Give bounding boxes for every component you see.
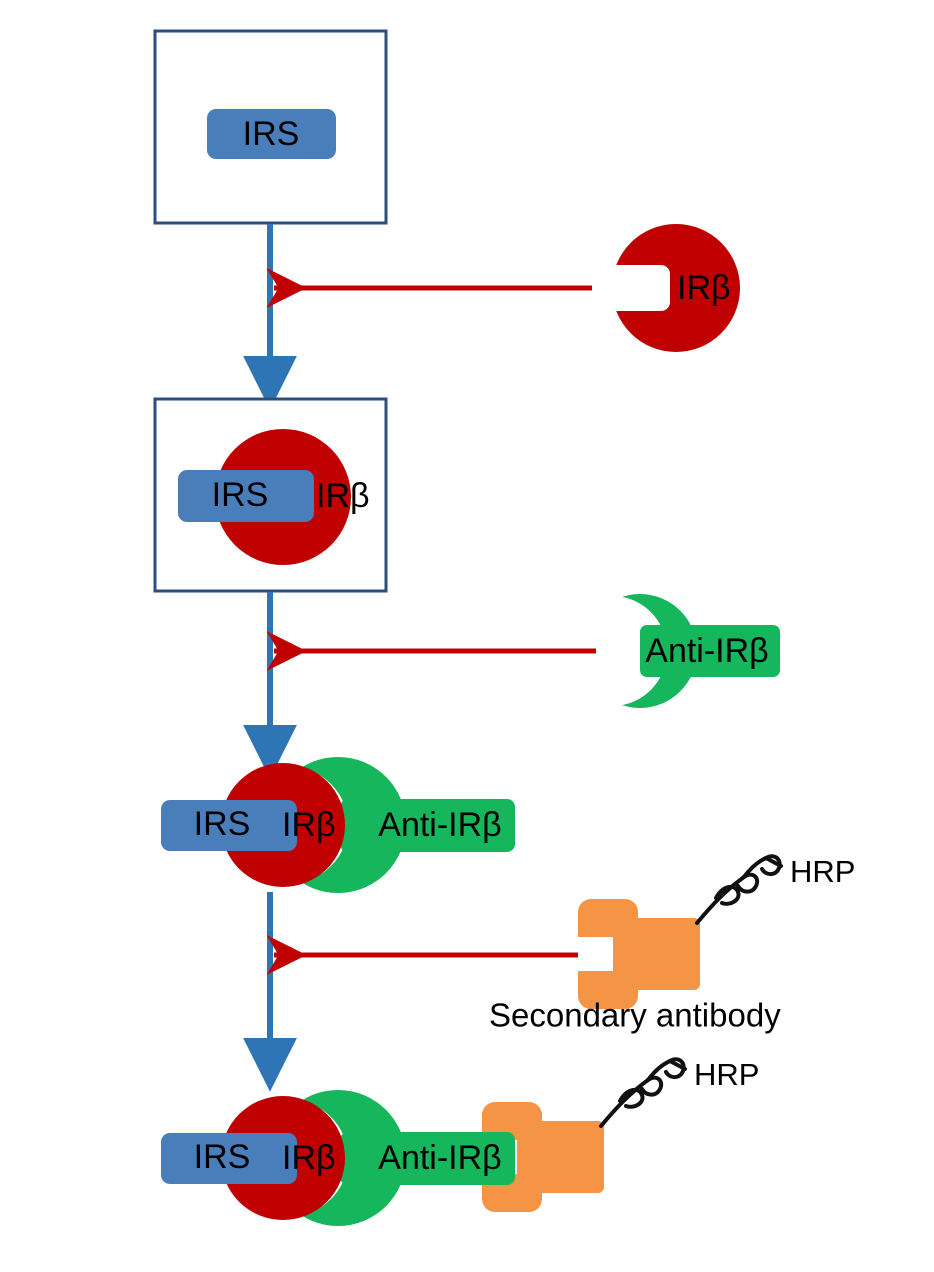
hrp-sprig-step4 xyxy=(601,1059,685,1126)
reagent-irbeta: IRβ xyxy=(612,224,740,352)
reagent-secondary-antibody: HRP Secondary antibody xyxy=(489,854,855,1034)
irs-label-step3: IRS xyxy=(194,805,251,843)
irs-label-step4: IRS xyxy=(194,1138,251,1176)
step-3-complex: IRS IRβ Anti-IRβ xyxy=(161,757,515,893)
hrp-label-step4: HRP xyxy=(694,1057,759,1092)
irbeta-label-step3: IRβ xyxy=(282,806,336,844)
irbeta-reagent-label: IRβ xyxy=(677,269,731,307)
diagram-canvas: IRS IRβ IRS IRβ Anti-IRβ xyxy=(0,0,934,1272)
secondary-clamp-reagent xyxy=(578,899,638,1009)
secondary-body-reagent xyxy=(630,918,700,990)
reagent-anti-irbeta: Anti-IRβ xyxy=(583,594,780,708)
irbeta-label-step4: IRβ xyxy=(282,1139,336,1177)
step-1-well-box: IRS xyxy=(155,31,386,223)
step-2-well-box: IRS IRβ xyxy=(155,399,386,591)
irbeta-label-step2: IRβ xyxy=(316,477,370,515)
anti-irbeta-label-step4: Anti-IRβ xyxy=(378,1139,501,1177)
secondary-body-step4 xyxy=(534,1121,604,1193)
irs-label-step2: IRS xyxy=(212,476,269,514)
irs-label-step1: IRS xyxy=(243,115,300,153)
anti-irbeta-label-step3: Anti-IRβ xyxy=(378,806,501,844)
hrp-sprig-reagent xyxy=(697,856,781,923)
secondary-antibody-label: Secondary antibody xyxy=(489,997,781,1034)
step-4-complex: IRS IRβ Anti-IRβ HRP xyxy=(161,1057,759,1226)
anti-irbeta-reagent-label: Anti-IRβ xyxy=(645,632,768,670)
immunoassay-scheme-figure: IRS IRβ IRS IRβ Anti-IRβ xyxy=(0,0,934,1272)
hrp-label-reagent: HRP xyxy=(790,854,855,889)
